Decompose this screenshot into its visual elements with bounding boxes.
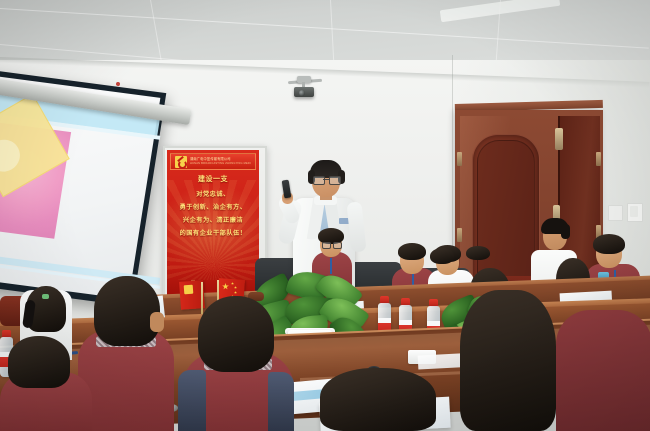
student-body [556,310,650,431]
student-hair [466,246,490,260]
lanyard [330,258,332,274]
door-flush-bolt[interactable] [555,128,563,150]
student-hair [198,296,274,372]
student-hair [460,290,556,431]
student-hair [8,336,70,388]
banner-org-en: HUNAN BROADCASTING ZHONGYING MEDIA CO., … [190,162,251,166]
student-hair [593,234,625,254]
hammer-sickle-icon [184,285,194,295]
eyeglasses-icon [322,242,340,247]
projector-lens-icon [299,90,305,96]
student-ear [150,312,164,332]
hair-clip [42,294,49,299]
door-hinge [596,152,601,166]
adult-staff-hair [561,224,570,239]
meeting-room-photo: 湖南广电中盈传媒有限公司 HUNAN BROADCASTING ZHONGYIN… [0,0,650,431]
student-hair [398,243,426,260]
banner-line-2: 对党忠诚、 [167,191,259,198]
banner-line-4: 兴企有为、清正廉洁 [167,217,259,224]
banner-header: 湖南广电中盈传媒有限公司 HUNAN BROADCASTING ZHONGYIN… [170,153,256,170]
banner-line-5: 的国有企业干部队伍！ [167,230,259,237]
backpack-strap [178,370,206,431]
backpack-strap [268,372,294,431]
student-hair [320,368,436,431]
door-hinge [457,152,462,166]
banner-org-name: 湖南广电中盈传媒有限公司 HUNAN BROADCASTING ZHONGYIN… [190,157,251,165]
banner-line-3: 勇于创新、治企有方、 [167,204,259,211]
power-outlet[interactable] [608,205,623,221]
door-panel-inner [477,140,535,282]
light-switch-rocker[interactable] [630,206,638,217]
student-hair [94,276,160,346]
door-hinge [457,228,462,242]
eyeglasses-icon [313,176,339,183]
party-emblem-icon [175,156,187,168]
student-hair [430,248,454,264]
banner-line-1: 建设一支 [167,176,259,184]
